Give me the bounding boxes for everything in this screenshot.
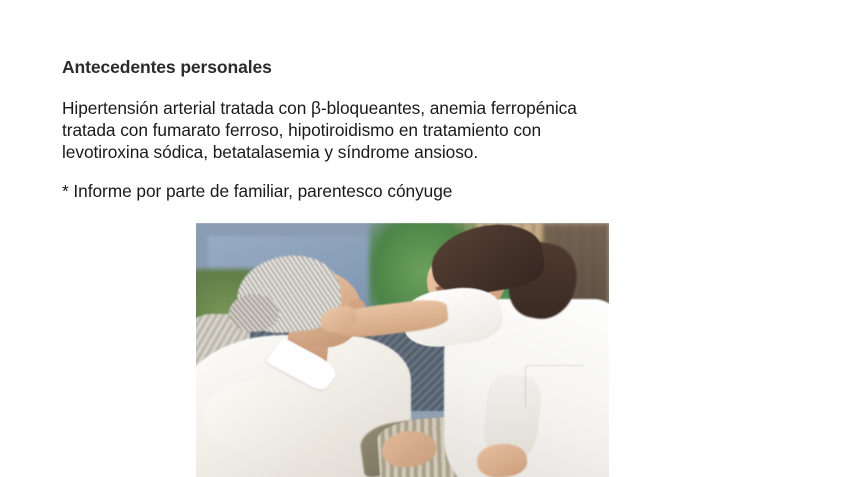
body-paragraph: Hipertensión arterial tratada con β-bloq… — [62, 97, 791, 163]
body-line-1: Hipertensión arterial tratada con β-bloq… — [62, 97, 791, 119]
page-title: Antecedentes personales — [62, 57, 792, 78]
body-line-2: tratada con fumarato ferroso, hipotiroid… — [62, 119, 791, 141]
body-line-3: levotiroxina sódica, betatalasemia y sín… — [62, 141, 791, 163]
photo-scene — [196, 223, 609, 477]
elderly-woman-hair-bun — [229, 294, 279, 332]
slide-canvas: Antecedentes personales Hipertensión art… — [0, 0, 848, 477]
caregiver-photo — [196, 223, 609, 477]
footnote-text: * Informe por parte de familiar, parente… — [62, 180, 792, 202]
caregiver-uniform-pocket — [525, 365, 584, 407]
